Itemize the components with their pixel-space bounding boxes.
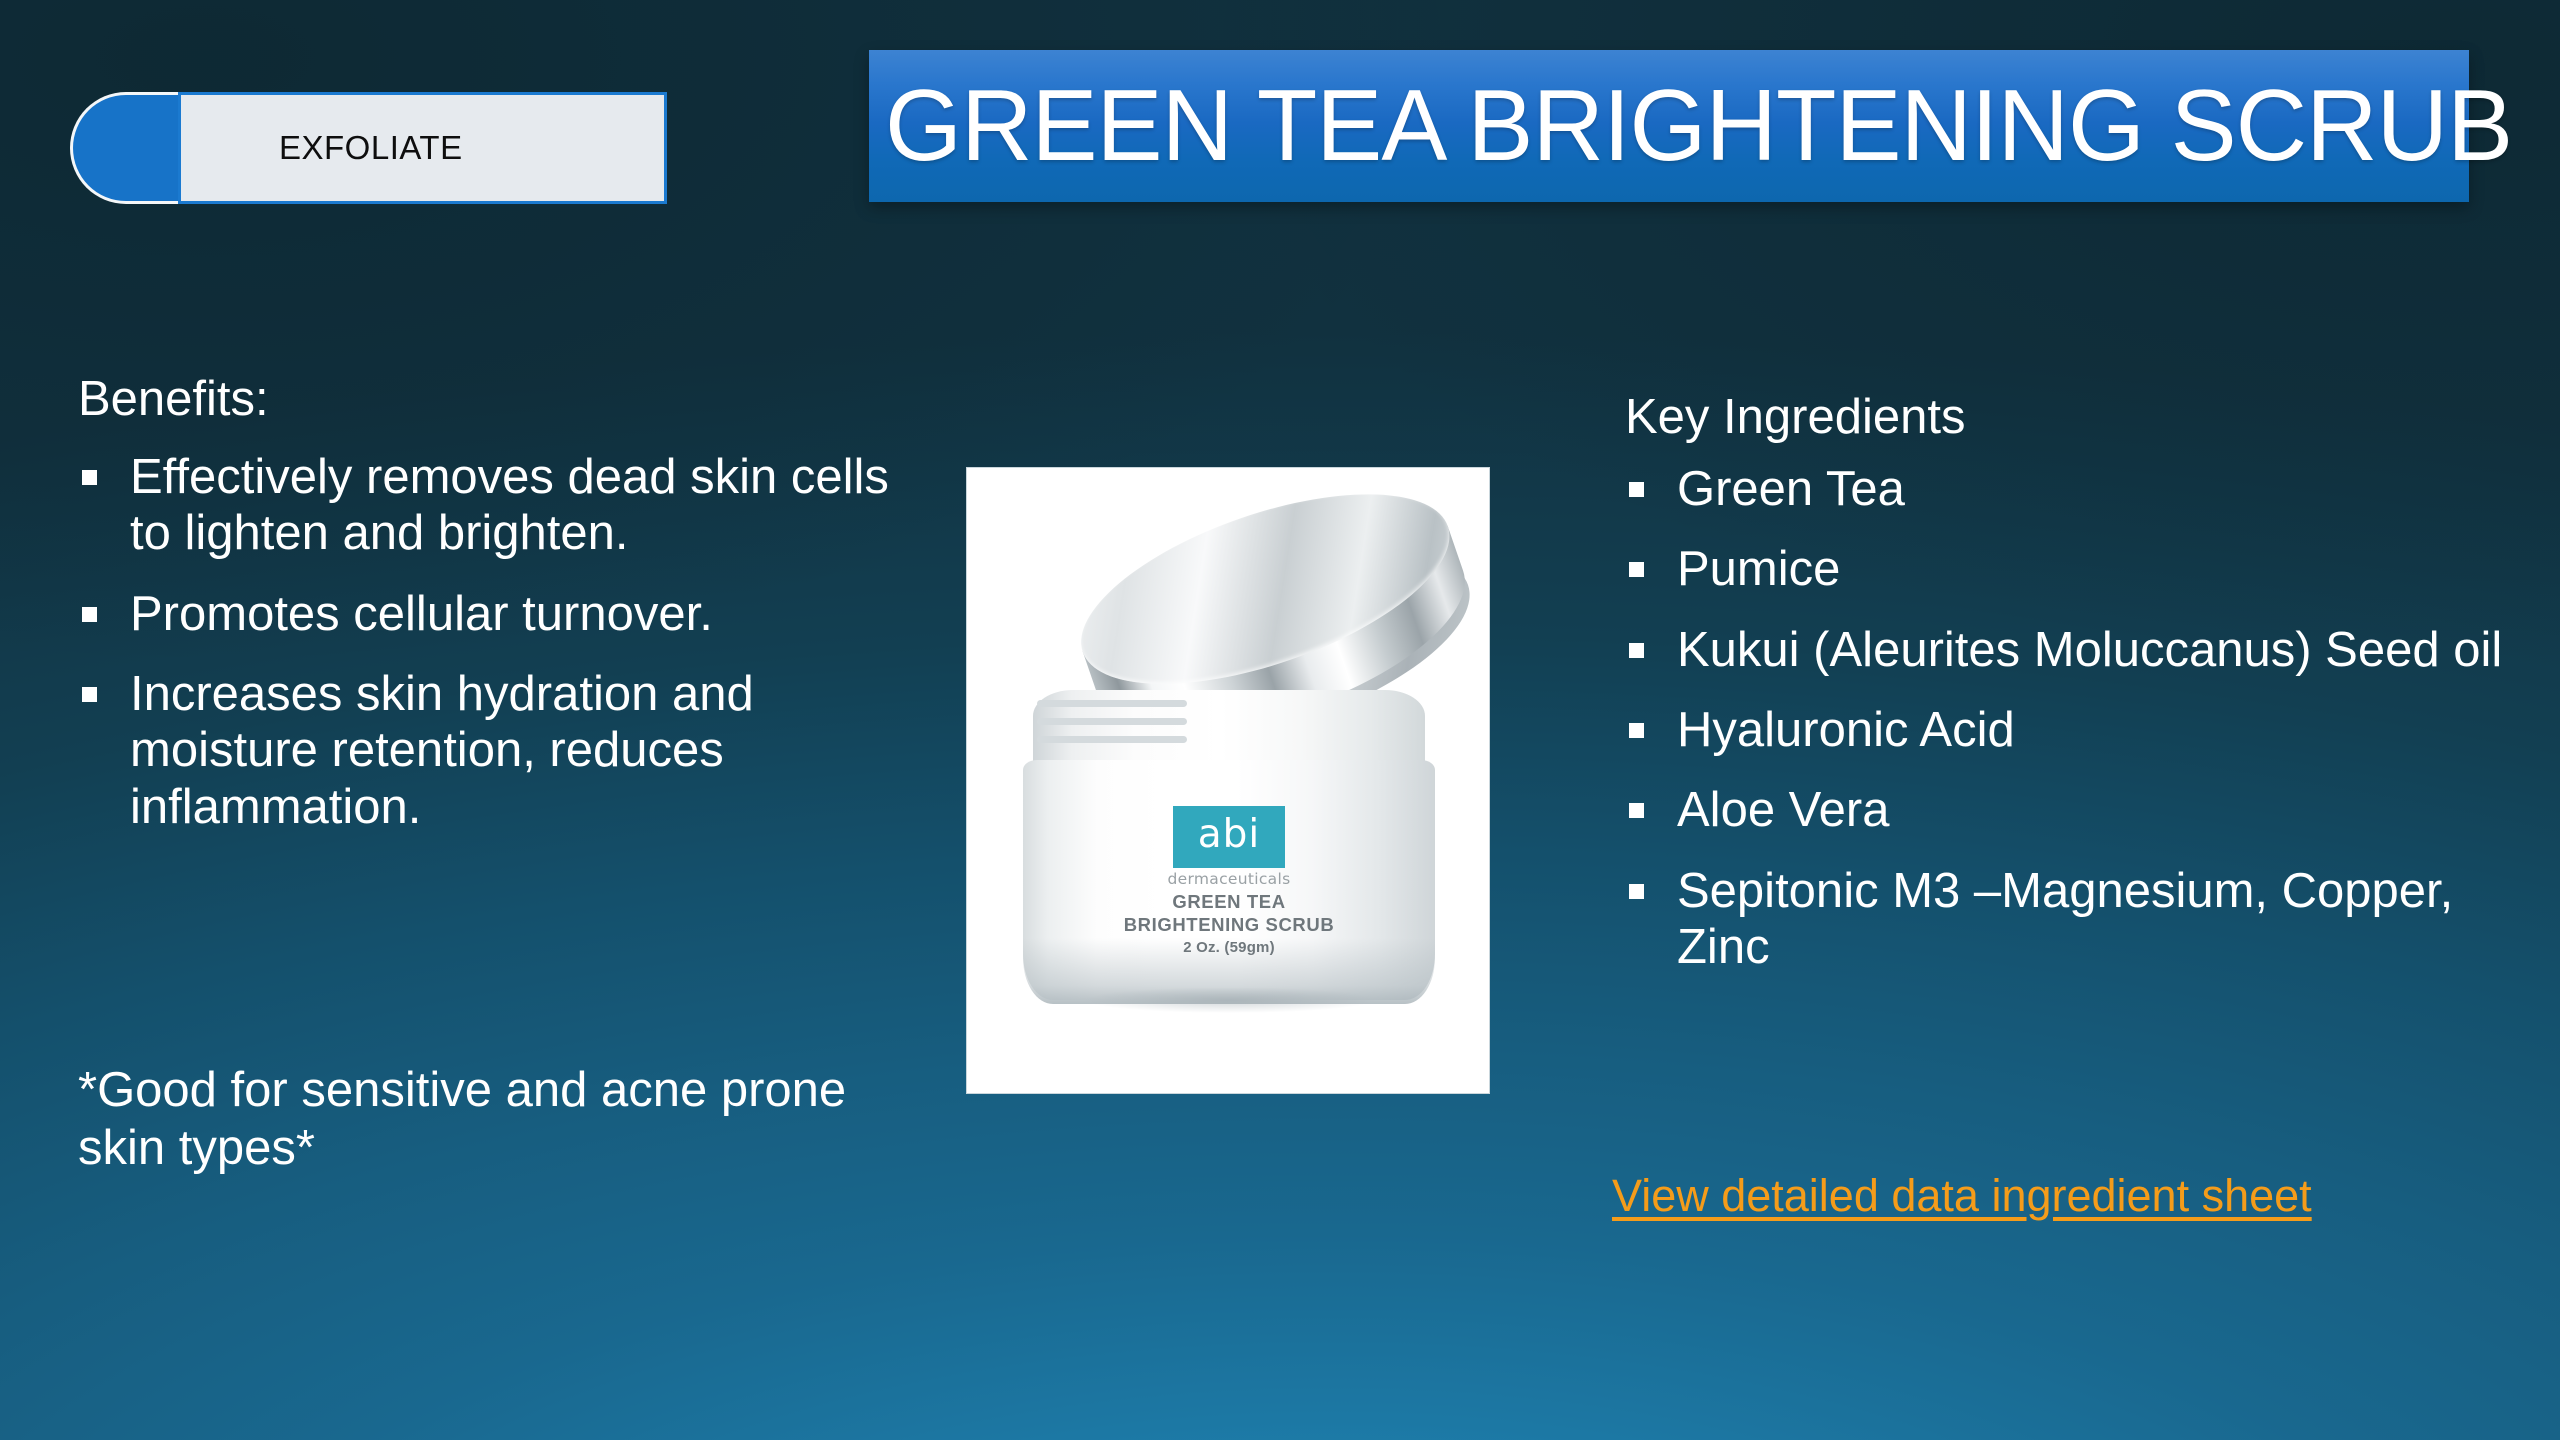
jar-thread-icon (1037, 700, 1187, 707)
product-size: 2 Oz. (59gm) (1119, 939, 1339, 956)
badge-rounded-cap (70, 92, 190, 204)
product-name-line-2: BRIGHTENING SCRUB (1119, 914, 1339, 937)
benefit-text: Increases skin hydration and moisture re… (130, 667, 754, 834)
category-badge: EXFOLIATE (70, 92, 667, 204)
jar-drop-shadow (1027, 988, 1431, 1018)
badge-label: EXFOLIATE (279, 129, 463, 167)
product-jar-illustration: abi dermaceuticals GREEN TEA BRIGHTENING… (967, 468, 1489, 1093)
list-item: Hyaluronic Acid (1625, 702, 2545, 758)
ingredient-text: Sepitonic M3 –Magnesium, Copper, Zinc (1677, 864, 2453, 974)
benefits-section: Benefits: Effectively removes dead skin … (78, 372, 918, 859)
ingredient-text: Pumice (1677, 542, 1840, 596)
square-bullet-icon (1629, 723, 1644, 738)
jar-thread-icon (1037, 736, 1187, 743)
benefits-list: Effectively removes dead skin cells to l… (78, 449, 918, 835)
square-bullet-icon (1629, 482, 1644, 497)
skin-type-note: *Good for sensitive and acne prone skin … (78, 1062, 908, 1178)
key-ingredients-section: Key Ingredients Green Tea Pumice Kukui (… (1625, 390, 2545, 999)
ingredient-text: Kukui (Aleurites Moluccanus) Seed oil (1677, 623, 2502, 677)
brand-logo-text: abi (1198, 815, 1261, 854)
key-ingredients-heading: Key Ingredients (1625, 390, 2545, 445)
list-item: Pumice (1625, 541, 2545, 597)
list-item: Increases skin hydration and moisture re… (78, 666, 918, 835)
square-bullet-icon (1629, 562, 1644, 577)
ingredient-text: Green Tea (1677, 462, 1905, 516)
square-bullet-icon (82, 687, 97, 702)
list-item: Effectively removes dead skin cells to l… (78, 449, 918, 562)
square-bullet-icon (1629, 884, 1644, 899)
brand-logo: abi (1173, 806, 1285, 868)
list-item: Sepitonic M3 –Magnesium, Copper, Zinc (1625, 863, 2545, 976)
ingredient-text: Aloe Vera (1677, 783, 1890, 837)
product-name-line-1: GREEN TEA (1119, 891, 1339, 914)
title-banner: GREEN TEA BRIGHTENING SCRUB (869, 50, 2469, 202)
page-title: GREEN TEA BRIGHTENING SCRUB (885, 76, 2453, 177)
product-label: abi dermaceuticals GREEN TEA BRIGHTENING… (1119, 806, 1339, 956)
ingredient-sheet-link[interactable]: View detailed data ingredient sheet (1612, 1170, 2312, 1221)
list-item: Promotes cellular turnover. (78, 586, 918, 642)
ingredient-sheet-link-wrapper: View detailed data ingredient sheet (1612, 1170, 2312, 1222)
square-bullet-icon (1629, 643, 1644, 658)
square-bullet-icon (82, 470, 97, 485)
list-item: Kukui (Aleurites Moluccanus) Seed oil (1625, 622, 2545, 678)
benefit-text: Effectively removes dead skin cells to l… (130, 450, 889, 560)
benefit-text: Promotes cellular turnover. (130, 587, 713, 641)
ingredient-text: Hyaluronic Acid (1677, 703, 2015, 757)
badge-box: EXFOLIATE (178, 92, 667, 204)
brand-tagline: dermaceuticals (1119, 870, 1339, 888)
square-bullet-icon (1629, 803, 1644, 818)
list-item: Green Tea (1625, 461, 2545, 517)
benefits-heading: Benefits: (78, 372, 918, 427)
jar-thread-icon (1037, 718, 1187, 725)
square-bullet-icon (82, 607, 97, 622)
list-item: Aloe Vera (1625, 782, 2545, 838)
product-image: abi dermaceuticals GREEN TEA BRIGHTENING… (966, 467, 1490, 1094)
ingredients-list: Green Tea Pumice Kukui (Aleurites Molucc… (1625, 461, 2545, 975)
